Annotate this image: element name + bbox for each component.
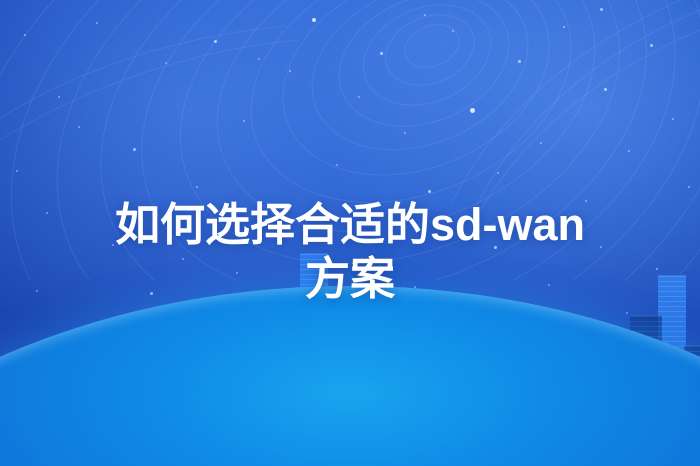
- earth-horizon-edge-glow: [0, 286, 700, 466]
- title-line-1: 如何选择合适的sd-wan: [24, 198, 676, 252]
- banner-title: 如何选择合适的sd-wan 方案: [0, 198, 700, 306]
- title-line-2: 方案: [24, 252, 676, 306]
- article-hero-banner: 如何选择合适的sd-wan 方案: [0, 0, 700, 466]
